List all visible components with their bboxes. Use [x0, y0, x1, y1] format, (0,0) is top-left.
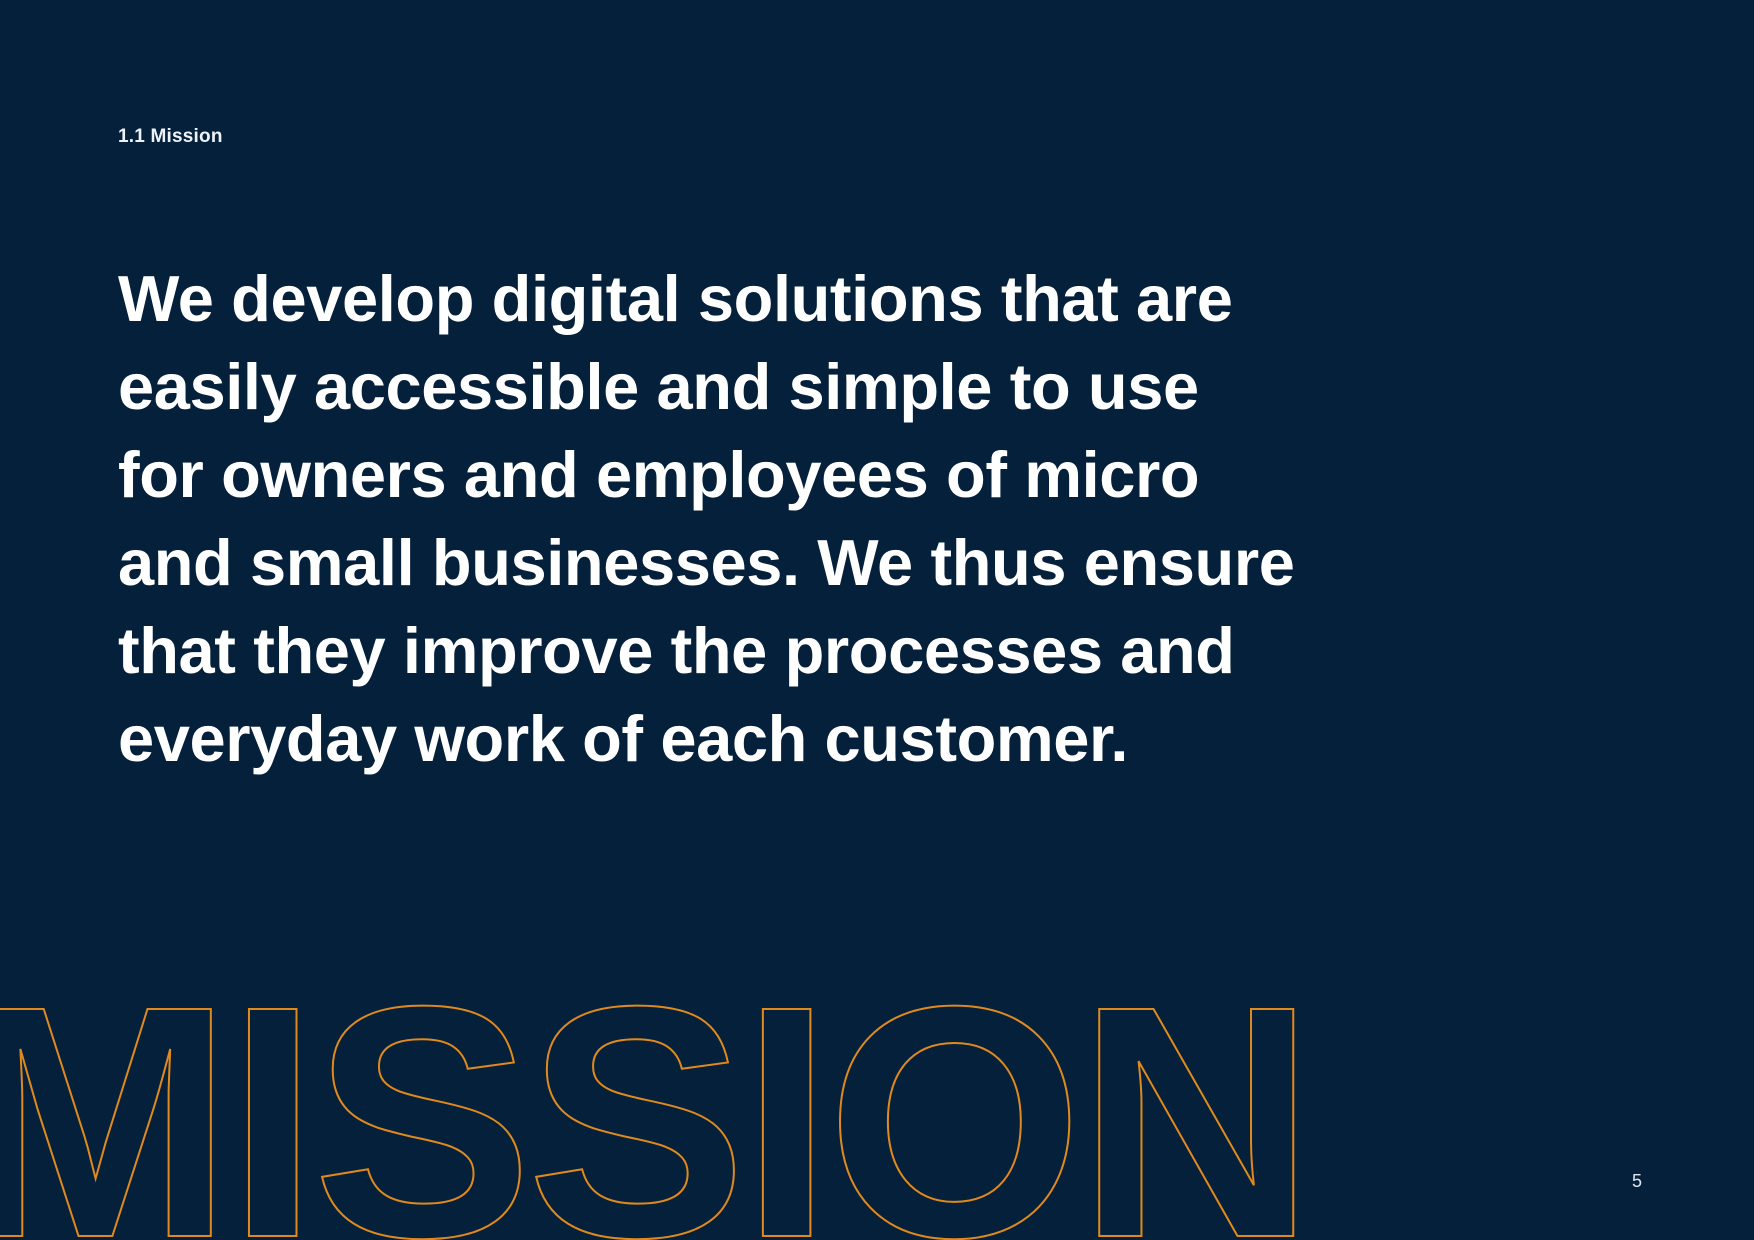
statement-line-5: that they improve the processes and	[118, 607, 1428, 695]
statement-line-6: everyday work of each customer.	[118, 695, 1428, 783]
watermark-mission-outline: MISSION	[0, 906, 1518, 1240]
statement-line-3: for owners and employees of micro	[118, 431, 1428, 519]
watermark-text: MISSION	[0, 937, 1309, 1240]
slide-canvas: 1.1 Mission We develop digital solutions…	[0, 0, 1754, 1240]
page-number: 5	[1632, 1172, 1642, 1190]
mission-statement: We develop digital solutions that are ea…	[118, 255, 1428, 783]
statement-line-4: and small businesses. We thus ensure	[118, 519, 1428, 607]
statement-line-2: easily accessible and simple to use	[118, 343, 1428, 431]
statement-line-1: We develop digital solutions that are	[118, 255, 1428, 343]
section-label: 1.1 Mission	[118, 126, 223, 149]
